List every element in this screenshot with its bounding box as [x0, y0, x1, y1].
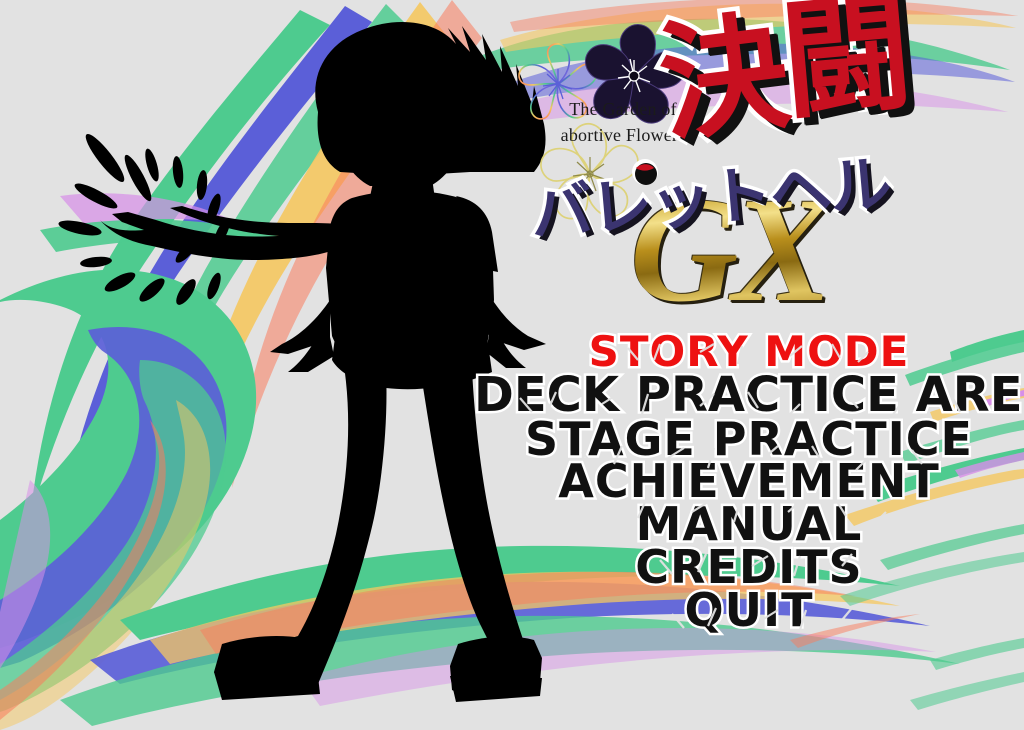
main-menu: STORY MODE DECK PRACTICE ARENA STAGE PRA… [474, 332, 1024, 632]
kanji-char-1: 決 [653, 8, 792, 150]
menu-item-story-mode[interactable]: STORY MODE [474, 332, 1024, 371]
menu-item-quit[interactable]: QUIT [474, 589, 1024, 632]
game-title-katakana: バレットヘル [528, 152, 892, 245]
menu-item-deck-practice-arena[interactable]: DECK PRACTICE ARENA [474, 373, 1024, 418]
game-main-menu-screen: The Garden of abortive Flowers 決闘 GX バレッ… [0, 0, 1024, 730]
title-block: The Garden of abortive Flowers 決闘 GX バレッ… [510, 0, 1024, 330]
kanji-char-2: 闘 [777, 0, 912, 128]
game-title-kanji: 決闘 [653, 0, 915, 151]
